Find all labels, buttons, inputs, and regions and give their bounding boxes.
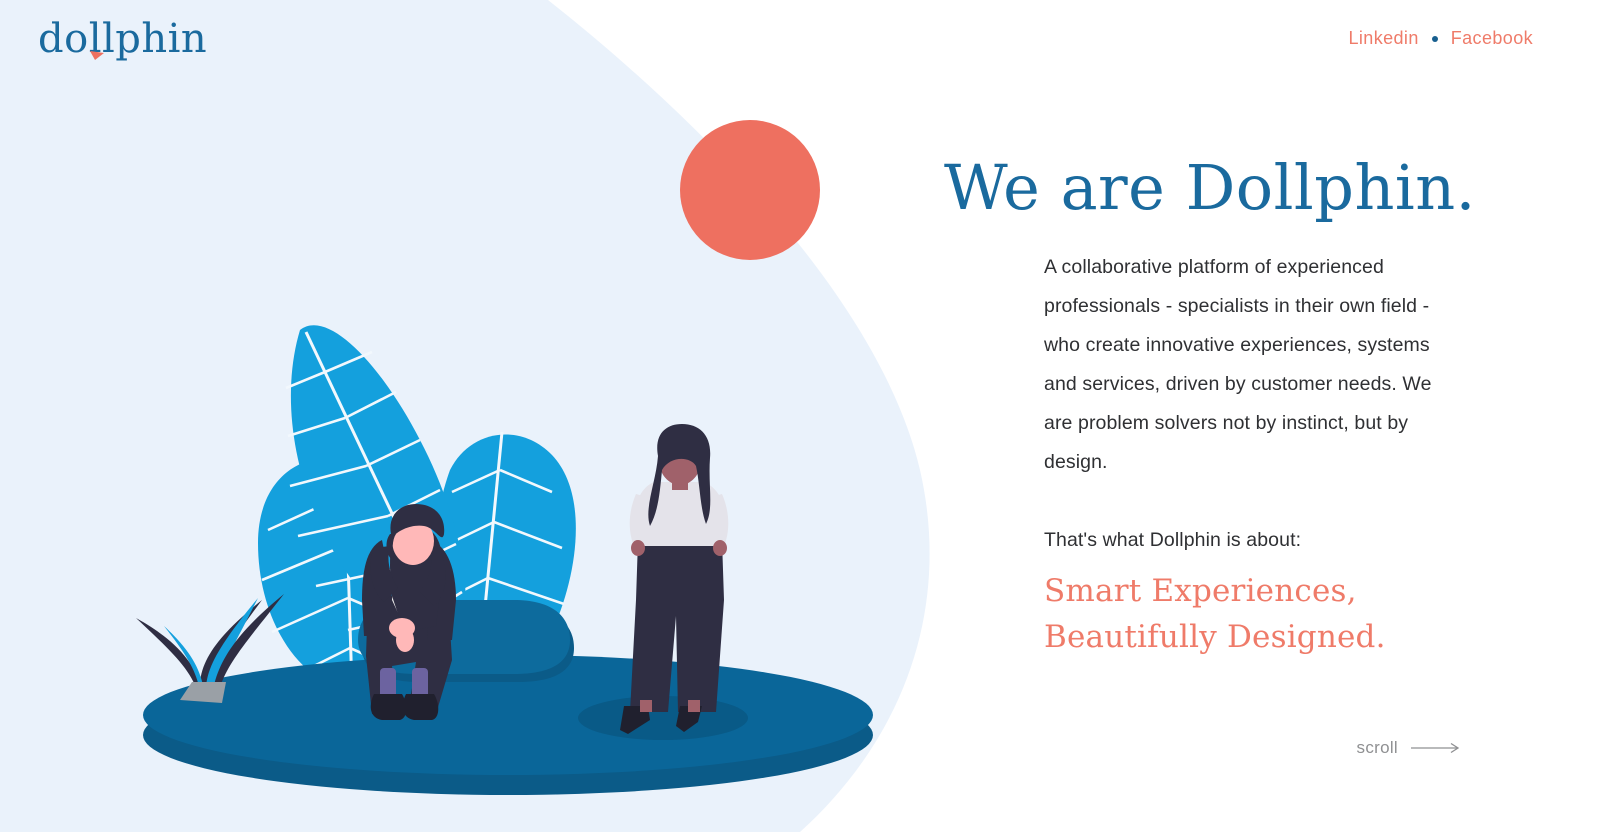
arrow-right-icon xyxy=(1411,742,1461,754)
nav-link-facebook[interactable]: Facebook xyxy=(1451,28,1533,49)
tagline: Smart Experiences, Beautifully Designed. xyxy=(1044,568,1464,660)
gray-rock xyxy=(180,682,226,703)
tagline-lead: That's what Dollphin is about: xyxy=(1044,521,1464,560)
nav-separator-dot xyxy=(1432,36,1438,42)
dolphin-fin-icon xyxy=(89,49,105,61)
hero-content: We are Dollphin. A collaborative platfor… xyxy=(944,150,1544,660)
decorative-coral-circle xyxy=(680,120,820,260)
logo[interactable]: dollphin xyxy=(38,14,298,70)
scroll-cue[interactable]: scroll xyxy=(1357,738,1461,758)
scroll-label: scroll xyxy=(1357,738,1398,758)
hero-paragraph: A collaborative platform of experienced … xyxy=(1044,248,1464,482)
landing-page: dollphin Linkedin Facebook We are Dollph… xyxy=(0,0,1601,832)
social-nav: Linkedin Facebook xyxy=(1348,28,1533,49)
hero-illustration xyxy=(0,0,1000,832)
nav-link-linkedin[interactable]: Linkedin xyxy=(1348,28,1418,49)
logo-text: dollphin xyxy=(38,14,207,64)
page-title: We are Dollphin. xyxy=(944,150,1544,226)
hero-body: A collaborative platform of experienced … xyxy=(1044,248,1464,660)
site-header: dollphin Linkedin Facebook xyxy=(0,0,1601,82)
